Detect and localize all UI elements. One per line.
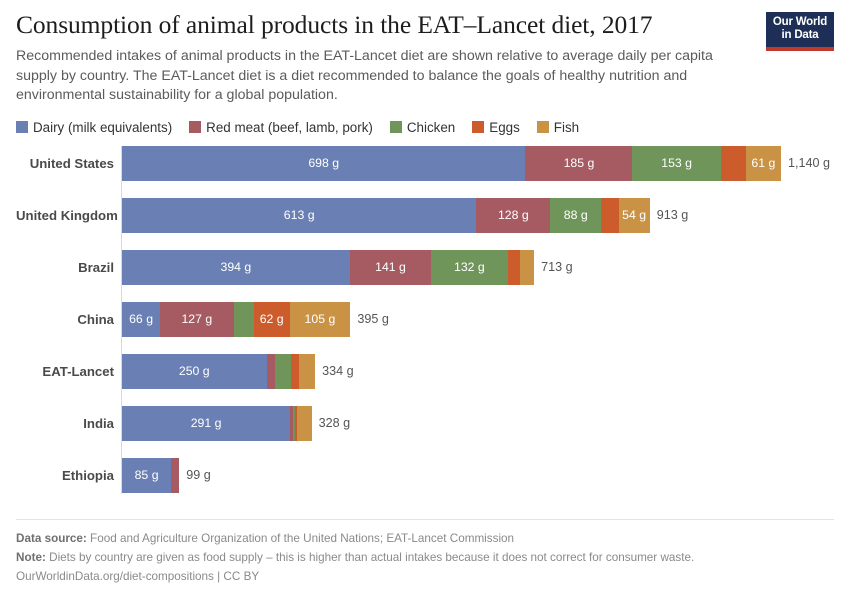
bar-segment-label: 88 g: [564, 208, 588, 222]
row-label: Brazil: [16, 250, 114, 285]
stacked-bar-chart: United States698 g185 g153 g61 g1,140 gU…: [16, 146, 834, 494]
bar-segment-label: 132 g: [454, 260, 485, 274]
note-text: Diets by country are given as food suppl…: [46, 551, 694, 564]
page-title: Consumption of animal products in the EA…: [16, 10, 756, 40]
legend-swatch-icon: [189, 121, 201, 133]
bar-segment[interactable]: 88 g: [550, 198, 601, 233]
bar-total-label: 99 g: [179, 458, 211, 493]
legend-item[interactable]: Dairy (milk equivalents): [16, 120, 172, 135]
stacked-bar[interactable]: 613 g128 g88 g54 g: [122, 198, 650, 233]
chart-row: India291 g328 g: [16, 406, 834, 458]
bar-segment[interactable]: [299, 354, 315, 389]
row-label: United Kingdom: [16, 198, 114, 233]
bar-segment[interactable]: [267, 354, 275, 389]
chart-row: EAT-Lancet250 g334 g: [16, 354, 834, 406]
bar-segment-label: 54 g: [622, 208, 646, 222]
legend-swatch-icon: [472, 121, 484, 133]
bar-segment-label: 250 g: [179, 364, 210, 378]
bar-total-label: 1,140 g: [781, 146, 830, 181]
row-label: Ethiopia: [16, 458, 114, 493]
bar-total-label: 395 g: [350, 302, 389, 337]
stacked-bar[interactable]: 66 g127 g62 g105 g: [122, 302, 350, 337]
bar-segment[interactable]: 153 g: [632, 146, 720, 181]
page-subtitle: Recommended intakes of animal products i…: [16, 47, 746, 106]
bar-segment[interactable]: [171, 458, 179, 493]
logo-line-1: Our World: [771, 16, 829, 29]
row-label: China: [16, 302, 114, 337]
bar-segment[interactable]: 62 g: [254, 302, 290, 337]
bar-segment-label: 62 g: [260, 312, 284, 326]
data-source-label: Data source:: [16, 532, 87, 545]
legend-item-label: Fish: [554, 120, 579, 135]
bar-segment-label: 141 g: [375, 260, 406, 274]
bar-segment-label: 128 g: [498, 208, 529, 222]
bar-segment[interactable]: [297, 406, 311, 441]
bar-segment[interactable]: 61 g: [746, 146, 781, 181]
our-world-in-data-logo[interactable]: Our World in Data: [766, 12, 834, 51]
stacked-bar[interactable]: 394 g141 g132 g: [122, 250, 534, 285]
legend-item[interactable]: Eggs: [472, 120, 520, 135]
bar-total-label: 713 g: [534, 250, 573, 285]
bar-segment[interactable]: 394 g: [122, 250, 350, 285]
bar-segment[interactable]: 128 g: [476, 198, 550, 233]
bar-total-label: 328 g: [312, 406, 351, 441]
bar-segment[interactable]: [508, 250, 520, 285]
bar-segment-label: 105 g: [305, 312, 336, 326]
license-line[interactable]: OurWorldinData.org/diet-compositions | C…: [16, 567, 834, 586]
stacked-bar[interactable]: 250 g: [122, 354, 315, 389]
bar-segment-label: 698 g: [308, 156, 339, 170]
bar-segment[interactable]: [520, 250, 534, 285]
bar-segment[interactable]: 291 g: [122, 406, 290, 441]
chart-row: United Kingdom613 g128 g88 g54 g913 g: [16, 198, 834, 250]
bar-segment-label: 394 g: [220, 260, 251, 274]
bar-segment[interactable]: 185 g: [525, 146, 632, 181]
legend-swatch-icon: [16, 121, 28, 133]
legend-item-label: Red meat (beef, lamb, pork): [206, 120, 373, 135]
row-label: EAT-Lancet: [16, 354, 114, 389]
legend-item-label: Dairy (milk equivalents): [33, 120, 172, 135]
note-line: Note: Diets by country are given as food…: [16, 548, 834, 567]
bar-segment[interactable]: 85 g: [122, 458, 171, 493]
stacked-bar[interactable]: 698 g185 g153 g61 g: [122, 146, 781, 181]
chart-row: Ethiopia85 g99 g: [16, 458, 834, 510]
bar-segment-label: 61 g: [751, 156, 775, 170]
legend-swatch-icon: [537, 121, 549, 133]
stacked-bar[interactable]: 85 g: [122, 458, 179, 493]
legend-swatch-icon: [390, 121, 402, 133]
bar-segment-label: 291 g: [191, 416, 222, 430]
legend-item-label: Chicken: [407, 120, 455, 135]
chart-legend: Dairy (milk equivalents)Red meat (beef, …: [16, 120, 834, 135]
row-label: India: [16, 406, 114, 441]
chart-header: Consumption of animal products in the EA…: [16, 0, 834, 106]
legend-item-label: Eggs: [489, 120, 520, 135]
bar-segment-label: 85 g: [135, 468, 159, 482]
bar-segment-label: 153 g: [661, 156, 692, 170]
bar-segment[interactable]: 141 g: [350, 250, 432, 285]
bar-segment-label: 66 g: [129, 312, 153, 326]
legend-item[interactable]: Chicken: [390, 120, 455, 135]
bar-segment[interactable]: 613 g: [122, 198, 476, 233]
bar-segment-label: 185 g: [564, 156, 595, 170]
bar-segment[interactable]: 105 g: [290, 302, 351, 337]
data-source-text: Food and Agriculture Organization of the…: [87, 532, 514, 545]
logo-line-2: in Data: [771, 29, 829, 42]
bar-segment[interactable]: 66 g: [122, 302, 160, 337]
bar-segment[interactable]: [601, 198, 618, 233]
chart-row: Brazil394 g141 g132 g713 g: [16, 250, 834, 302]
bar-segment[interactable]: 698 g: [122, 146, 525, 181]
bar-segment-label: 613 g: [284, 208, 315, 222]
bar-segment[interactable]: [721, 146, 746, 181]
legend-item[interactable]: Fish: [537, 120, 579, 135]
chart-row: China66 g127 g62 g105 g395 g: [16, 302, 834, 354]
bar-total-label: 334 g: [315, 354, 354, 389]
chart-footer: Data source: Food and Agriculture Organi…: [16, 519, 834, 586]
legend-item[interactable]: Red meat (beef, lamb, pork): [189, 120, 373, 135]
bar-segment-label: 127 g: [181, 312, 212, 326]
data-source-line: Data source: Food and Agriculture Organi…: [16, 529, 834, 548]
bar-segment[interactable]: [275, 354, 292, 389]
stacked-bar[interactable]: 291 g: [122, 406, 312, 441]
bar-segment[interactable]: [234, 302, 254, 337]
bar-segment[interactable]: 127 g: [160, 302, 233, 337]
bar-segment[interactable]: 132 g: [431, 250, 507, 285]
bar-segment[interactable]: 250 g: [122, 354, 267, 389]
row-label: United States: [16, 146, 114, 181]
bar-total-label: 913 g: [650, 198, 689, 233]
chart-page: Consumption of animal products in the EA…: [0, 0, 850, 600]
chart-row: United States698 g185 g153 g61 g1,140 g: [16, 146, 834, 198]
bar-segment[interactable]: [291, 354, 299, 389]
note-label: Note:: [16, 551, 46, 564]
bar-segment[interactable]: 54 g: [619, 198, 650, 233]
